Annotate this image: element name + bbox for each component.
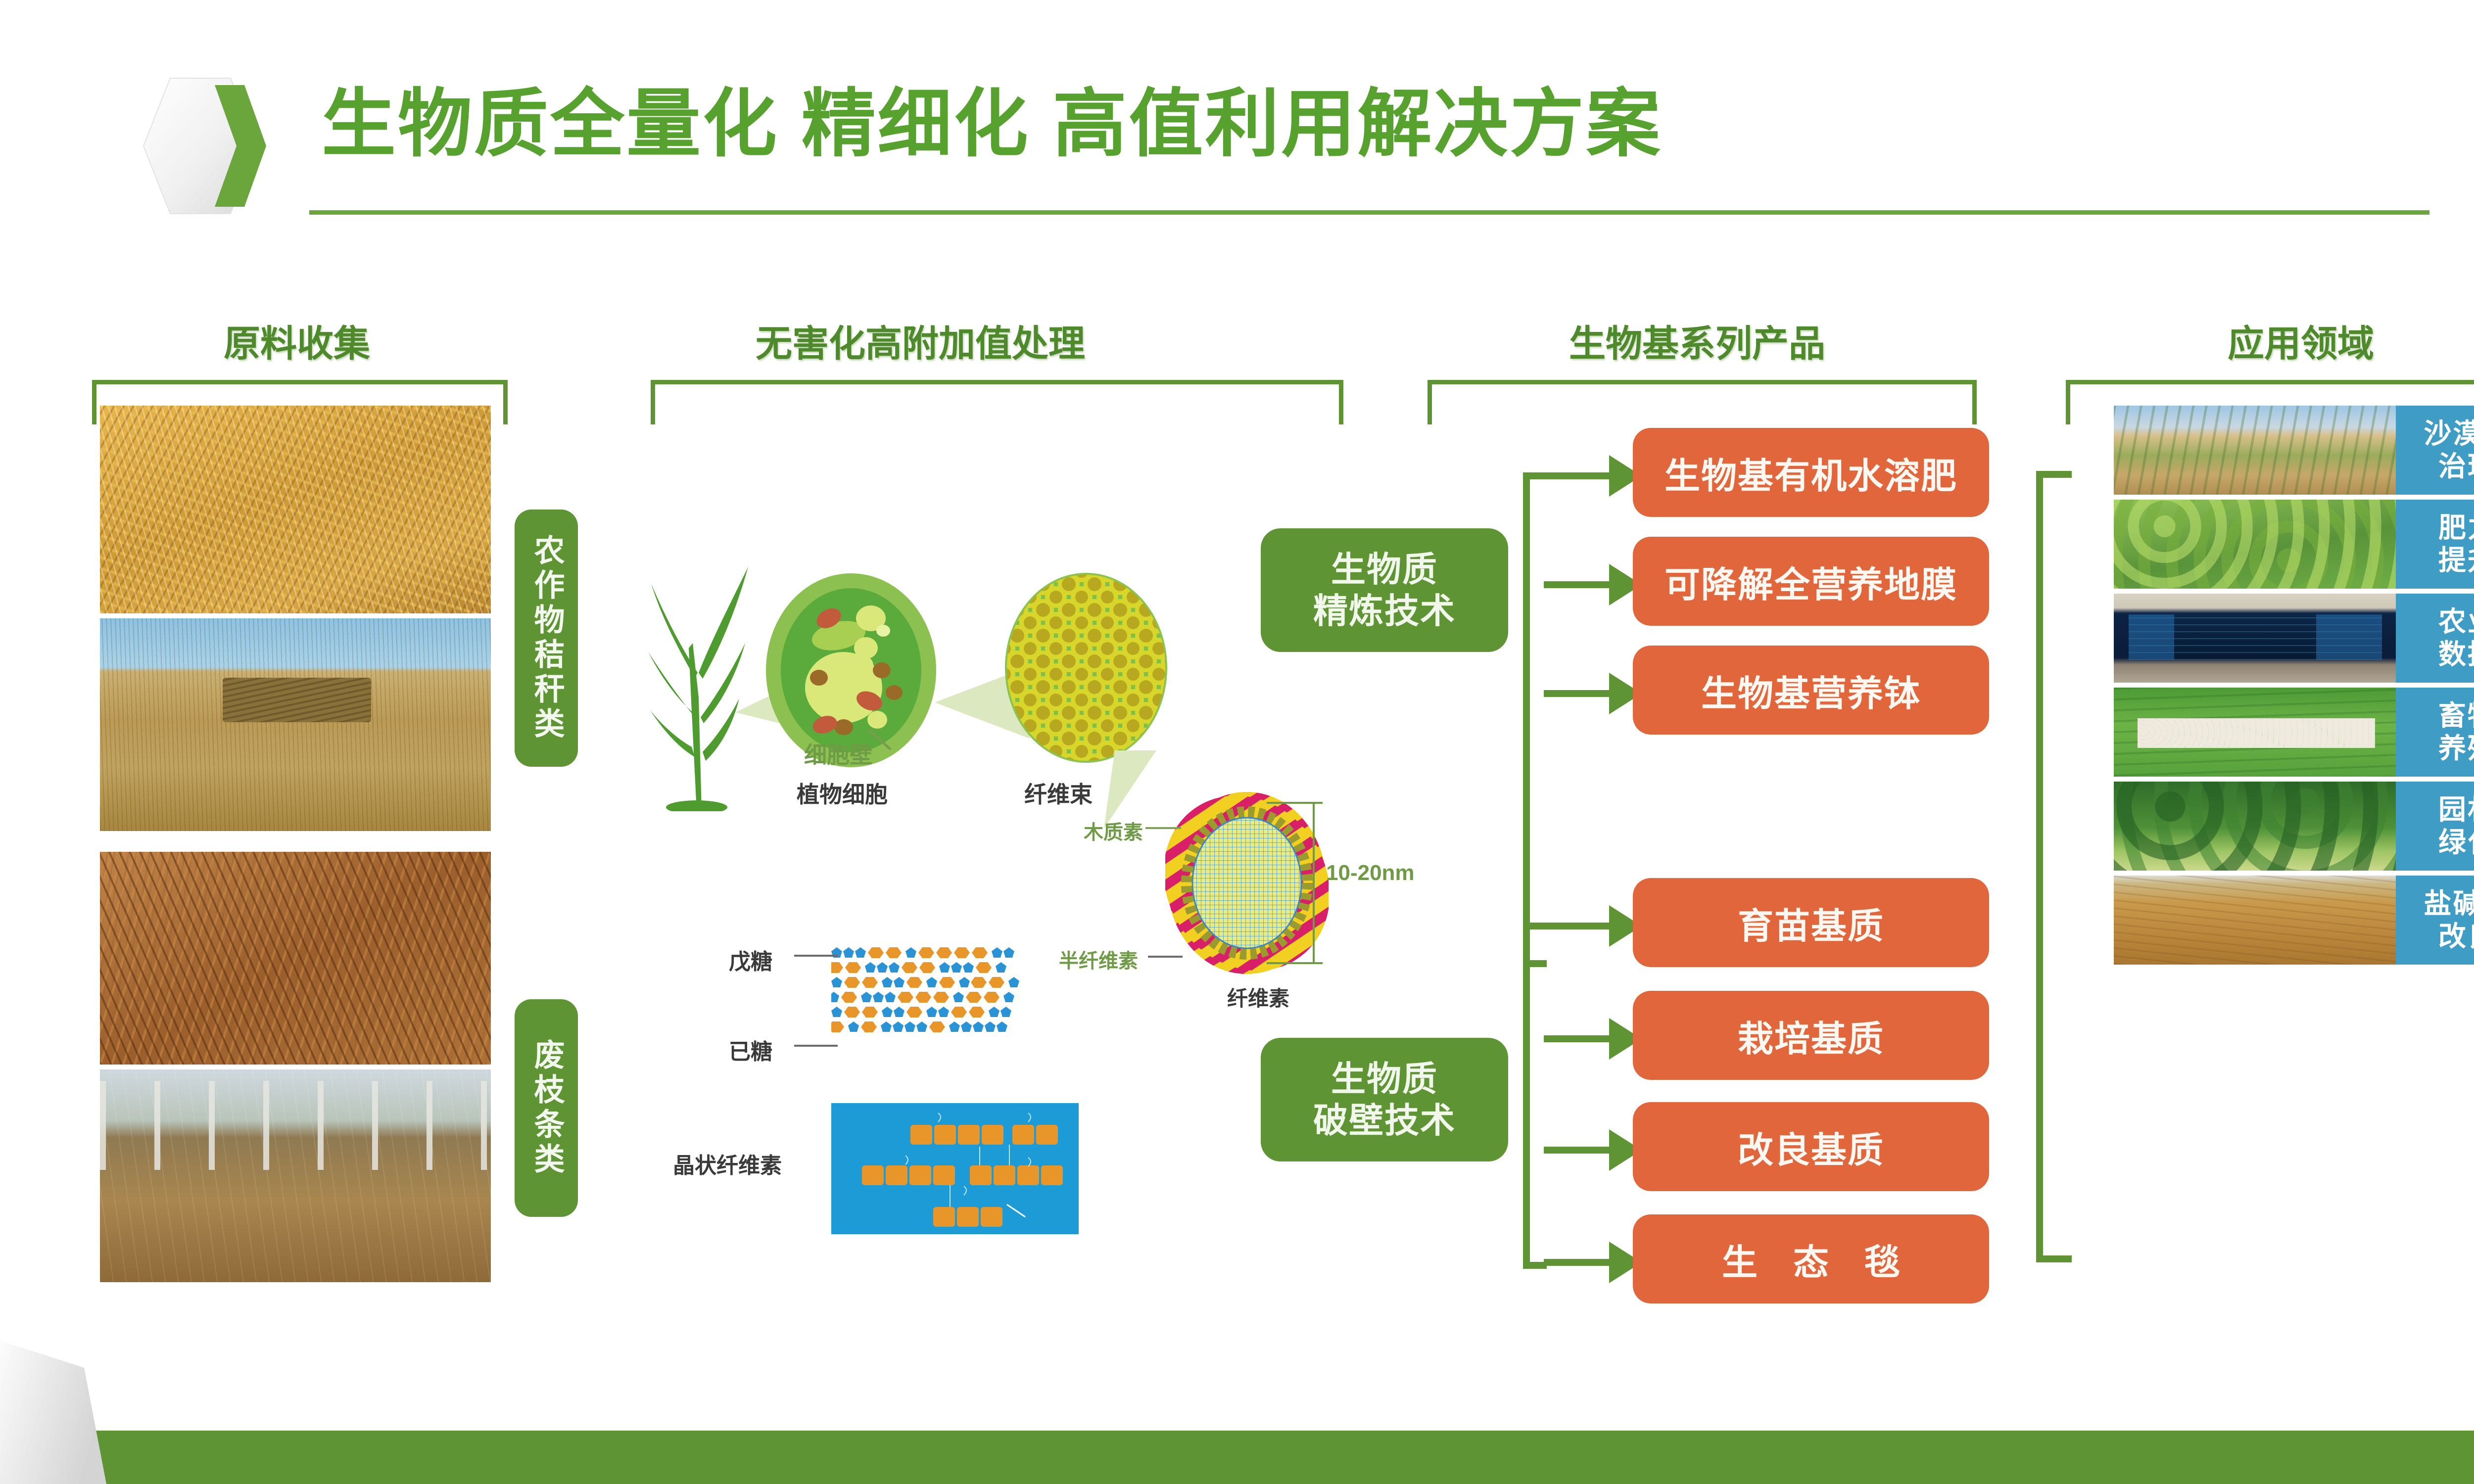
bracket-products bbox=[1427, 380, 1977, 424]
tech-breaking-line2: 破壁技术 bbox=[1313, 1100, 1456, 1141]
app-tag-saline-alkali-improvement[interactable]: 盐碱地 改良 bbox=[2396, 876, 2474, 965]
hexagon-logo-icon bbox=[137, 74, 270, 218]
title-underline bbox=[309, 210, 2429, 215]
section-header-products: 生物基系列产品 bbox=[1385, 314, 2009, 367]
tech-refining-line1: 生物质 bbox=[1331, 549, 1438, 590]
photo-saline-soil-field bbox=[2114, 876, 2396, 965]
app-line2-1: 提升 bbox=[2438, 544, 2474, 577]
vineyard-posts bbox=[100, 1081, 491, 1170]
label-plant-cell: 植物细胞 bbox=[797, 777, 888, 809]
label-hexose: 已糖 bbox=[729, 1034, 772, 1066]
section-header-processing: 无害化高附加值处理 bbox=[534, 314, 1306, 367]
label-crystalline-cellulose: 晶状纤维素 bbox=[673, 1148, 782, 1179]
photo-desert-restoration-site bbox=[2114, 406, 2396, 495]
app-line1-1: 肥力 bbox=[2438, 511, 2474, 544]
sugar-chain-diagram bbox=[831, 947, 1079, 1061]
connector-applications-top bbox=[2036, 471, 2072, 478]
connector-spine-top-refining bbox=[1523, 472, 1547, 479]
photo-corn-straw-pile bbox=[100, 406, 491, 613]
connector-line-product-6 bbox=[1544, 1147, 1613, 1154]
app-tag-agricultural-data[interactable]: 农业 数据 bbox=[2396, 594, 2474, 683]
footer-wedge-shape bbox=[0, 1341, 119, 1484]
connector-spine-applications bbox=[2036, 471, 2043, 1262]
app-line1-3: 畜牧 bbox=[2438, 699, 2474, 732]
app-line1-4: 园林 bbox=[2438, 793, 2474, 826]
app-tag-desertification-control[interactable]: 沙漠化 治理 bbox=[2396, 406, 2474, 495]
tech-breaking-line1: 生物质 bbox=[1331, 1058, 1438, 1100]
connector-spine-top-breaking bbox=[1523, 923, 1547, 929]
app-line1-5: 盐碱地 bbox=[2424, 887, 2474, 920]
product-bio-water-soluble-fertilizer[interactable]: 生物基有机水溶肥 bbox=[1633, 428, 1989, 517]
product-eco-blanket[interactable]: 生 态 毯 bbox=[1633, 1214, 1989, 1303]
product-bio-nutrient-pot[interactable]: 生物基营养钵 bbox=[1633, 646, 1989, 735]
leader-line-hexose bbox=[794, 1045, 838, 1047]
app-line2-2: 数据 bbox=[2438, 638, 2474, 671]
tech-refining-line2: 精炼技术 bbox=[1313, 590, 1456, 632]
infographic-canvas: 生物质全量化 精细化 高值利用解决方案 原料收集 无害化高附加值处理 生物基系列… bbox=[0, 0, 2474, 1484]
app-line1-2: 农业 bbox=[2438, 605, 2474, 638]
data-screen-overlay bbox=[2129, 614, 2382, 660]
tech-box-cell-wall-breaking[interactable]: 生物质 破壁技术 bbox=[1261, 1038, 1508, 1161]
label-cell-wall: 细胞壁 bbox=[804, 737, 872, 770]
app-tag-fertility-improvement[interactable]: 肥力 提升 bbox=[2396, 500, 2474, 589]
label-fiber-bundle: 纤维束 bbox=[1024, 777, 1093, 809]
connector-spine-refining bbox=[1523, 472, 1530, 967]
app-line2-5: 改良 bbox=[2438, 920, 2474, 953]
section-header-collection: 原料收集 bbox=[99, 314, 495, 367]
fiber-bundle-diagram bbox=[1004, 571, 1168, 764]
product-seedling-substrate[interactable]: 育苗基质 bbox=[1633, 878, 1989, 967]
hay-bale-object bbox=[223, 678, 371, 722]
connector-spine-bottom-breaking bbox=[1523, 1262, 1547, 1269]
app-tag-livestock-breeding[interactable]: 畜牧 养殖 bbox=[2396, 688, 2474, 777]
connector-spine-breaking bbox=[1523, 923, 1530, 1269]
section-header-applications: 应用领域 bbox=[2063, 314, 2474, 367]
app-line2-3: 养殖 bbox=[2438, 732, 2474, 765]
photo-cabbage-field bbox=[2114, 500, 2396, 589]
photo-hay-bale-field bbox=[100, 618, 491, 831]
product-improvement-substrate[interactable]: 改良基质 bbox=[1633, 1102, 1989, 1191]
connector-applications-bottom bbox=[2036, 1255, 2072, 1262]
label-fiber-dimension: 10-20nm bbox=[1326, 861, 1415, 885]
sheep-flock-overlay bbox=[2138, 718, 2375, 748]
label-pentose: 戊糖 bbox=[729, 944, 772, 975]
fiber-cross-section-diagram bbox=[1165, 789, 1329, 977]
footer-bar bbox=[0, 1431, 2474, 1484]
vertical-label-crop-straw: 农作物秸秆类 bbox=[515, 510, 578, 767]
leader-line-lignin bbox=[1145, 827, 1181, 829]
label-lignin: 木质素 bbox=[1084, 816, 1143, 845]
photo-park-trees bbox=[2114, 782, 2396, 871]
crystalline-cellulose-panel bbox=[831, 1103, 1079, 1234]
page-title: 生物质全量化 精细化 高值利用解决方案 bbox=[322, 87, 1662, 161]
connector-line-product-3 bbox=[1544, 690, 1613, 697]
connector-line-product-1 bbox=[1544, 472, 1613, 479]
bracket-processing bbox=[651, 380, 1343, 424]
photo-dry-branches bbox=[100, 852, 491, 1065]
leader-line-pentose bbox=[794, 955, 838, 957]
product-cultivation-substrate[interactable]: 栽培基质 bbox=[1633, 991, 1989, 1080]
connector-line-product-2 bbox=[1544, 581, 1613, 588]
app-line1-0: 沙漠化 bbox=[2424, 417, 2474, 450]
leader-line-hemicellulose bbox=[1148, 956, 1183, 958]
app-line2-0: 治理 bbox=[2438, 450, 2474, 483]
label-cellulose: 纤维素 bbox=[1227, 982, 1289, 1012]
app-line2-4: 绿化 bbox=[2438, 826, 2474, 859]
app-tag-landscape-greening[interactable]: 园林 绿化 bbox=[2396, 782, 2474, 871]
connector-line-product-7 bbox=[1544, 1259, 1613, 1266]
connector-line-product-5 bbox=[1544, 1035, 1613, 1042]
tech-box-refining[interactable]: 生物质 精炼技术 bbox=[1261, 528, 1508, 652]
vertical-label-waste-twigs: 废枝条类 bbox=[515, 999, 578, 1217]
product-degradable-nutrient-film[interactable]: 可降解全营养地膜 bbox=[1633, 537, 1989, 626]
connector-line-product-4 bbox=[1544, 923, 1613, 929]
